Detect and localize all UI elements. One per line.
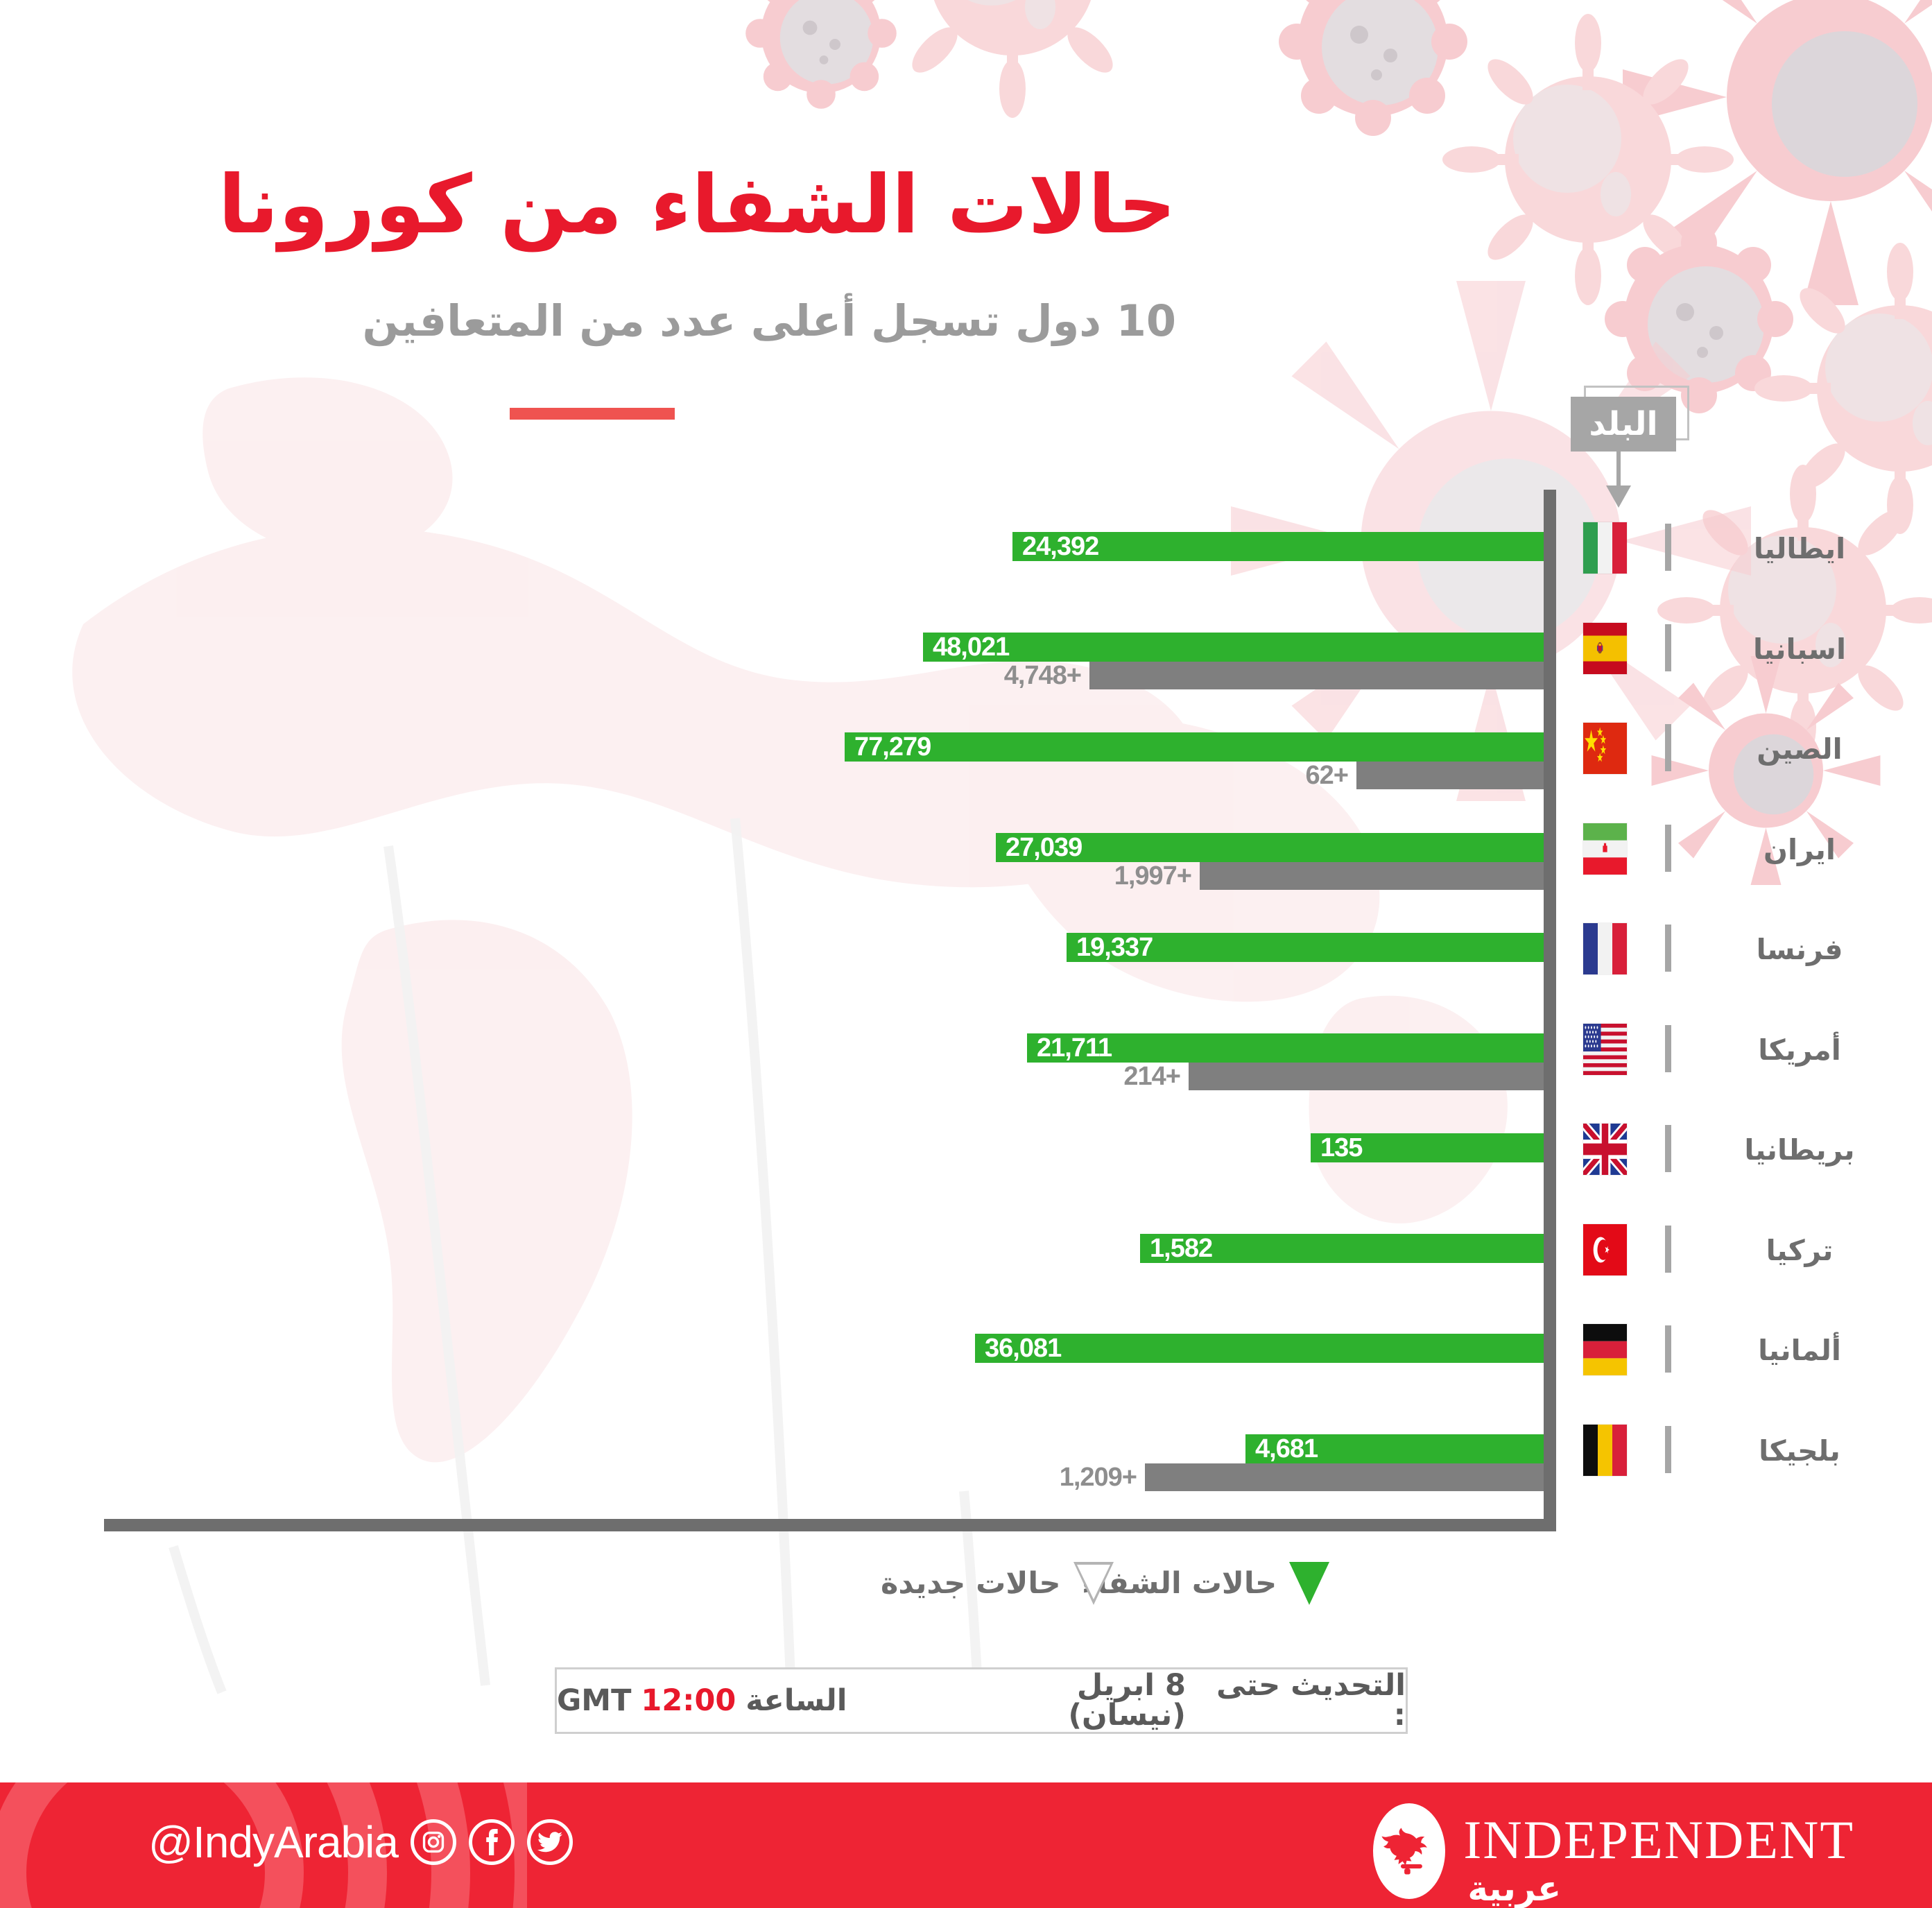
update-time-segment: الساعة 12:00 GMT <box>557 1686 847 1716</box>
bar-recovered: 19,337 <box>1067 933 1544 962</box>
eagle-icon <box>1373 1803 1445 1899</box>
row-tick <box>1665 624 1671 671</box>
chart-axis-vertical <box>1544 490 1556 1530</box>
footer-bar: @IndyArabia INDEPENDENT عربية <box>0 1782 1932 1908</box>
update-time-label: الساعة <box>745 1686 847 1716</box>
bar-new-cases: +62 <box>1356 762 1544 789</box>
bar-recovered: 1,582 <box>1140 1234 1544 1263</box>
country-label: الصين <box>1685 735 1914 764</box>
country-label: فرنسا <box>1685 936 1914 964</box>
flag-it-icon <box>1583 522 1627 574</box>
legend-triangle-green-icon <box>1289 1562 1329 1605</box>
instagram-icon[interactable] <box>411 1819 456 1865</box>
bar-value-recovered: 24,392 <box>1022 533 1098 560</box>
chart-axis-horizontal <box>104 1519 1556 1531</box>
bar-new-cases: +214 <box>1189 1063 1544 1090</box>
update-timezone: GMT <box>557 1686 631 1716</box>
legend-item-recovered: حالات الشفاء <box>1082 1562 1329 1605</box>
flag-cn-icon <box>1583 723 1627 774</box>
row-tick <box>1665 524 1671 571</box>
bar-value-recovered: 4,681 <box>1255 1436 1318 1462</box>
title-divider <box>510 408 675 420</box>
country-label: بلجيكا <box>1685 1437 1914 1466</box>
row-tick <box>1665 1025 1671 1072</box>
bar-value-recovered: 77,279 <box>854 734 931 760</box>
bar-new-cases: +4,748 <box>1089 662 1544 689</box>
update-info-box: التحديث حتى : 8 ابريل (نيسان) الساعة 12:… <box>555 1667 1408 1734</box>
bar-recovered: 24,392 <box>1012 532 1544 561</box>
brand-name: INDEPENDENT <box>1463 1813 1854 1867</box>
bar-value-recovered: 36,081 <box>985 1335 1061 1361</box>
row-tick <box>1665 724 1671 771</box>
bar-recovered: 4,681 <box>1245 1434 1544 1463</box>
bar-recovered: 21,711 <box>1027 1033 1544 1063</box>
country-label: تركيا <box>1685 1237 1914 1265</box>
row-tick <box>1665 1426 1671 1473</box>
update-date: 8 ابريل (نيسان) <box>951 1671 1186 1730</box>
row-tick <box>1665 1325 1671 1373</box>
bar-recovered: 48,021 <box>923 633 1544 662</box>
flag-gb-icon <box>1583 1124 1627 1175</box>
bar-value-new-cases: +1,209 <box>1060 1464 1137 1490</box>
row-tick <box>1665 925 1671 972</box>
country-label: ألمانيا <box>1685 1337 1914 1365</box>
flag-ir-icon <box>1583 823 1627 875</box>
row-tick <box>1665 825 1671 872</box>
bar-value-new-cases: +4,748 <box>1004 662 1081 689</box>
country-label: أمريكا <box>1685 1036 1914 1065</box>
country-label: ايران <box>1685 836 1914 864</box>
page-subtitle: 10 دول تسجل أعلى عدد من المتعافين <box>362 300 1176 343</box>
legend-label-new-cases: حالات جديدة <box>881 1569 1061 1599</box>
brand-logo: INDEPENDENT عربية <box>1373 1803 1854 1906</box>
bar-value-new-cases: +62 <box>1306 762 1348 789</box>
bar-new-cases: +1,209 <box>1145 1463 1544 1491</box>
bar-value-recovered: 1,582 <box>1150 1235 1212 1262</box>
flag-tr-icon <box>1583 1224 1627 1275</box>
update-date-segment: التحديث حتى : 8 ابريل (نيسان) <box>951 1671 1406 1730</box>
legend-triangle-gray-icon <box>1073 1562 1114 1605</box>
bar-value-new-cases: +214 <box>1123 1063 1180 1090</box>
country-label: اسبانيا <box>1685 635 1914 664</box>
row-tick <box>1665 1226 1671 1273</box>
flag-be-icon <box>1583 1425 1627 1476</box>
bar-value-recovered: 19,337 <box>1076 934 1153 961</box>
twitter-icon[interactable] <box>527 1819 573 1865</box>
bar-recovered: 27,039 <box>996 833 1544 862</box>
brand-text: INDEPENDENT عربية <box>1463 1803 1854 1906</box>
update-time: 12:00 <box>641 1686 736 1716</box>
bar-recovered: 36,081 <box>975 1334 1544 1363</box>
country-badge: البلد <box>1571 397 1676 452</box>
bar-recovered: 77,279 <box>845 732 1544 762</box>
update-label: التحديث حتى : <box>1196 1671 1406 1730</box>
country-label: بريطانيا <box>1685 1136 1914 1164</box>
arrow-down-icon <box>1606 485 1631 508</box>
badge-arrow-shaft <box>1616 452 1621 490</box>
row-tick <box>1665 1125 1671 1172</box>
flag-de-icon <box>1583 1324 1627 1375</box>
bar-recovered: 135 <box>1311 1133 1544 1162</box>
bar-value-recovered: 27,039 <box>1006 834 1082 861</box>
legend-item-new-cases: حالات جديدة <box>881 1562 1114 1605</box>
flag-us-icon <box>1583 1024 1627 1075</box>
facebook-icon[interactable] <box>469 1819 515 1865</box>
page-title: حالات الشفاء من كورونا <box>218 165 1176 246</box>
brand-name-arabic: عربية <box>1467 1871 1561 1906</box>
social-links[interactable]: @IndyArabia <box>132 1819 573 1865</box>
bar-new-cases: +1,997 <box>1200 862 1544 890</box>
bar-value-recovered: 48,021 <box>933 634 1009 660</box>
bar-value-recovered: 135 <box>1320 1135 1362 1161</box>
country-label: ايطاليا <box>1685 535 1914 563</box>
social-handle: @IndyArabia <box>148 1820 398 1864</box>
flag-fr-icon <box>1583 923 1627 974</box>
flag-es-icon <box>1583 623 1627 674</box>
bar-value-new-cases: +1,997 <box>1114 863 1191 889</box>
bar-value-recovered: 21,711 <box>1037 1035 1112 1061</box>
